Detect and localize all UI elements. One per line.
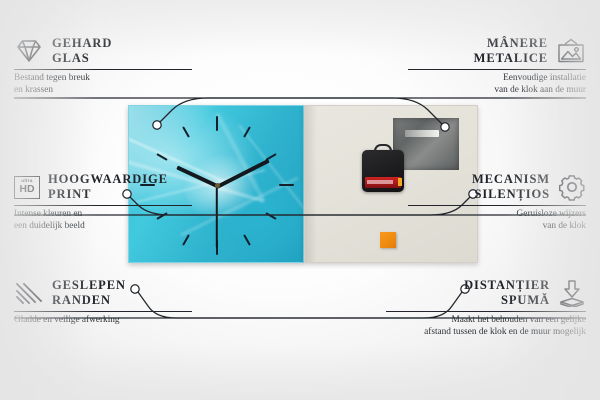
callout-desc-line1: Geruisloze wijzers [408, 209, 586, 221]
callout-header: GEHARD GLAS [14, 36, 192, 66]
callout-title: DISTANȚIER SPUMĂ [464, 278, 550, 308]
hanger-slot [405, 130, 439, 137]
mechanism-hook [374, 144, 392, 153]
infographic-stage: GEHARD GLAS Bestand tegen breuk en krass… [0, 0, 600, 400]
clock-mechanism [362, 150, 404, 192]
callout-title-line2: SPUMĂ [464, 293, 550, 308]
ultra-hd-icon-main-text: HD [19, 184, 34, 195]
clock-tick [216, 116, 218, 131]
callout-desc-line1: Gladde en veilige afwerking [14, 315, 192, 327]
callout-title-line2: PRINT [48, 187, 168, 202]
callout-desc-line1: Maakt het behouden van een gelijke [386, 315, 586, 327]
callout-divider [14, 69, 192, 70]
callout-desc-line2: een duidelijk beeld [14, 221, 192, 233]
ultra-hd-icon: ultra HD [14, 176, 40, 199]
clock-center-hub [215, 183, 220, 188]
foam-spacer-arrow-icon [558, 279, 586, 307]
callout-title-line1: GEHARD [52, 36, 112, 51]
callout-title: GEHARD GLAS [52, 36, 112, 66]
foam-spacer [380, 232, 396, 248]
callout-geslepen-randen: GESLEPEN RANDEN Gladde en veilige afwerk… [14, 278, 192, 327]
callout-divider [14, 311, 192, 312]
callout-desc-line2: van de klok [408, 221, 586, 233]
clock-tick [279, 184, 294, 186]
callout-description: Maakt het behouden van een gelijke afsta… [386, 315, 586, 338]
battery-label [367, 180, 393, 184]
battery [365, 177, 401, 188]
callout-hoogwaardige-print: ultra HD HOOGWAARDIGE PRINT Intense kleu… [14, 172, 192, 232]
callout-title-line2: METALICE [474, 51, 548, 66]
callout-desc-line1: Intense kleuren en [14, 209, 192, 221]
callout-divider [408, 205, 586, 206]
bevelled-edges-icon [14, 281, 44, 306]
callout-description: Gladde en veilige afwerking [14, 315, 192, 327]
wall-mount-picture-icon [556, 38, 586, 64]
callout-description: Geruisloze wijzers van de klok [408, 209, 586, 232]
callout-title-line2: GLAS [52, 51, 112, 66]
callout-description: Intense kleuren en een duidelijk beeld [14, 209, 192, 232]
callout-title: MÂNERE METALICE [474, 36, 548, 66]
callout-divider [386, 311, 586, 312]
callout-title-line2: SILENȚIOS [472, 187, 550, 202]
callout-description: Bestand tegen breuk en krassen [14, 73, 192, 96]
clock-tick [182, 234, 190, 245]
callout-title-line1: DISTANȚIER [464, 278, 550, 293]
callout-divider [408, 69, 586, 70]
callout-divider [14, 205, 192, 206]
callout-title-line2: RANDEN [52, 293, 126, 308]
battery-terminal [398, 178, 402, 186]
callout-desc-line2: afstand tussen de klok en de muur mogeli… [386, 327, 586, 339]
callout-header: MECANISM SILENȚIOS [408, 172, 586, 202]
callout-header: MÂNERE METALICE [408, 36, 586, 66]
callout-desc-line2: van de klok aan de muur [408, 85, 586, 97]
callout-manere-metalice: MÂNERE METALICE Eenvoudige installatie v… [408, 36, 586, 96]
clock-tick [182, 126, 190, 137]
callout-desc-line2: en krassen [14, 85, 192, 97]
clock-second-hand [216, 186, 218, 248]
callout-title: MECANISM SILENȚIOS [472, 172, 550, 202]
callout-title: GESLEPEN RANDEN [52, 278, 126, 308]
callout-header: GESLEPEN RANDEN [14, 278, 192, 308]
callout-gehard-glas: GEHARD GLAS Bestand tegen breuk en krass… [14, 36, 192, 96]
callout-desc-line1: Eenvoudige installatie [408, 73, 586, 85]
callout-distantier-spuma: DISTANȚIER SPUMĂ Maakt het behouden van … [386, 278, 586, 338]
gear-icon [558, 173, 586, 201]
callout-title-line1: MECANISM [472, 172, 550, 187]
callout-mecanism-silentios: MECANISM SILENȚIOS Geruisloze wijzers va… [408, 172, 586, 232]
callout-title-line1: MÂNERE [474, 36, 548, 51]
callout-title-line1: GESLEPEN [52, 278, 126, 293]
callout-header: ultra HD HOOGWAARDIGE PRINT [14, 172, 192, 202]
diamond-icon [14, 38, 44, 64]
callout-title-line1: HOOGWAARDIGE [48, 172, 168, 187]
callout-description: Eenvoudige installatie van de klok aan d… [408, 73, 586, 96]
callout-desc-line1: Bestand tegen breuk [14, 73, 192, 85]
callout-title: HOOGWAARDIGE PRINT [48, 172, 168, 202]
callout-header: DISTANȚIER SPUMĂ [386, 278, 586, 308]
